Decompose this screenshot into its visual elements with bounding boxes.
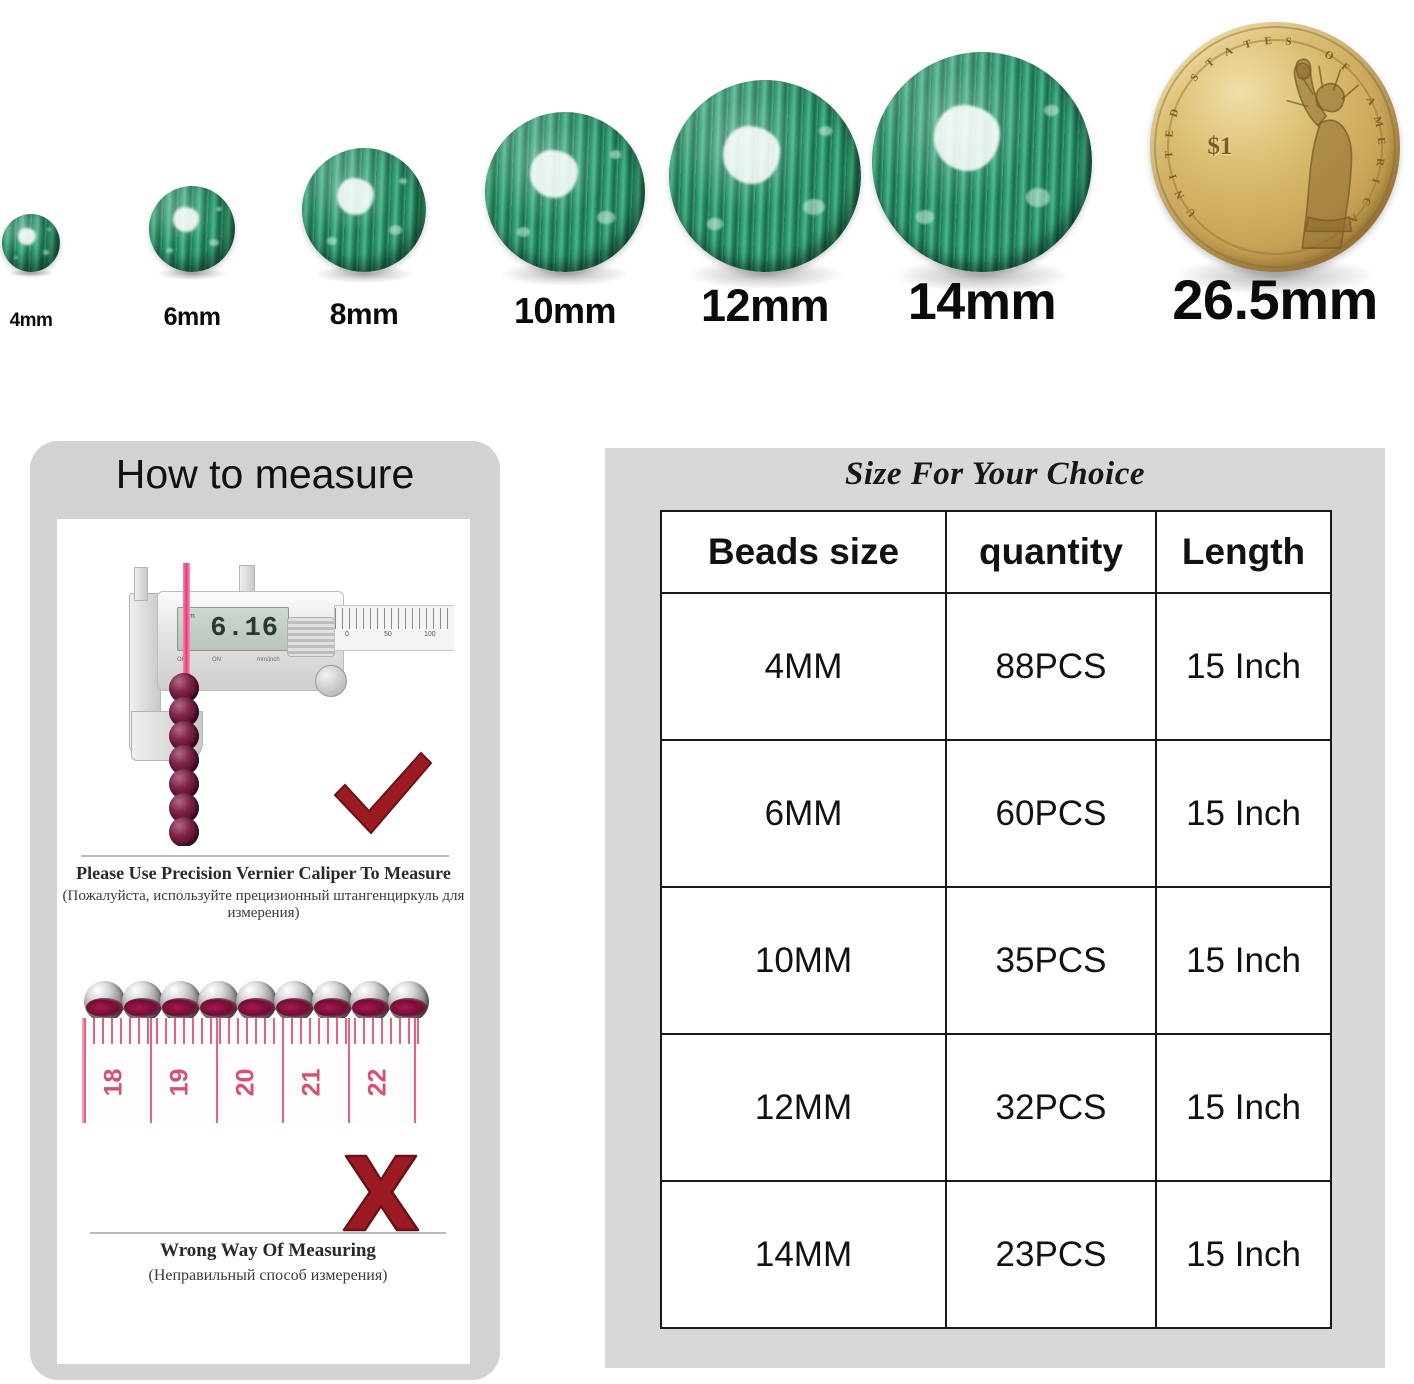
caption-divider-correct — [81, 855, 449, 857]
table-header-quantity: quantity — [946, 511, 1156, 593]
caliper-lcd-display: mm 6.16 — [177, 607, 289, 651]
table-cell-beads-size: 14MM — [661, 1181, 946, 1328]
size-table-title: Size For Your Choice — [605, 456, 1385, 493]
bead-size-label-4mm: 4mm — [10, 310, 53, 332]
cross-icon — [338, 1152, 424, 1234]
how-to-measure-panel: How to measure mm 6.16 OFF ON mm/inch — [30, 441, 500, 1380]
bead-size-label-12mm: 12mm — [701, 280, 829, 332]
caliper-upper-prong-left — [134, 567, 148, 601]
table-cell-length: 15 Inch — [1156, 887, 1331, 1034]
malachite-bead — [302, 148, 426, 272]
malachite-bead — [149, 186, 235, 272]
coin-item: UNITED STATES OF AMERICA$126.5mm — [1145, 0, 1405, 350]
table-cell-length: 15 Inch — [1156, 1034, 1331, 1181]
malachite-bead — [485, 112, 645, 272]
us-dollar-coin: UNITED STATES OF AMERICA$1 — [1150, 22, 1400, 272]
bead-size-label-10mm: 10mm — [514, 290, 616, 332]
malachite-bead — [2, 214, 60, 272]
table-body: 4MM88PCS15 Inch6MM60PCS15 Inch10MM35PCS1… — [661, 593, 1331, 1328]
ruler-number-21: 21 — [297, 1069, 326, 1097]
size-options-panel: Size For Your Choice Beads sizequantityL… — [605, 448, 1385, 1368]
correct-way-caption-ru: (Пожалуйста, используйте прецизионный шт… — [57, 888, 470, 922]
tape-measure-illustration: 18 19 20 21 22 — [82, 981, 450, 1123]
malachite-bead — [669, 80, 861, 272]
wrong-way-caption-en: Wrong Way Of Measuring — [68, 1240, 468, 1262]
bead-size-label-8mm: 8mm — [330, 298, 399, 332]
ruler-number-19: 19 — [165, 1069, 194, 1097]
caliper-thumb-wheel — [315, 665, 347, 697]
bead-size-label-6mm: 6mm — [164, 303, 221, 332]
steel-bead-strand — [84, 981, 426, 1022]
malachite-bead — [872, 52, 1092, 272]
caliper-scale-number-0: 0 — [345, 631, 349, 638]
table-cell-quantity: 23PCS — [946, 1181, 1156, 1328]
bead-size-label-14mm: 14mm — [908, 272, 1056, 332]
table-header-row: Beads sizequantityLength — [661, 511, 1331, 593]
caliper-reading: 6.16 — [210, 614, 288, 644]
ruler-number-22: 22 — [363, 1069, 392, 1097]
caliper-scale-number-100: 100 — [424, 631, 436, 638]
caliper-unit-toggle-button[interactable]: mm/inch — [257, 657, 280, 663]
caliper-depth-rod — [183, 563, 190, 678]
table-cell-quantity: 88PCS — [946, 593, 1156, 740]
table-cell-beads-size: 10MM — [661, 887, 946, 1034]
garnet-bead-strand — [167, 673, 203, 846]
table-cell-length: 15 Inch — [1156, 593, 1331, 740]
caliper-scale-number-50: 50 — [384, 631, 392, 638]
table-cell-beads-size: 6MM — [661, 740, 946, 887]
table-cell-quantity: 35PCS — [946, 887, 1156, 1034]
table-cell-beads-size: 4MM — [661, 593, 946, 740]
correct-way-caption-en: Please Use Precision Vernier Caliper To … — [57, 863, 470, 884]
check-icon — [329, 747, 437, 839]
wrong-measuring-card: 18 19 20 21 22 Wrong Way Of Measuring (Н… — [68, 934, 468, 1332]
table-cell-length: 15 Inch — [1156, 740, 1331, 887]
caliper-grip-ridges — [287, 617, 335, 657]
table-header-beads-size: Beads size — [661, 511, 946, 593]
table-row: 6MM60PCS15 Inch — [661, 740, 1331, 887]
size-table: Beads sizequantityLength 4MM88PCS15 Inch… — [660, 510, 1332, 1329]
tape-tick-marks — [84, 1018, 424, 1044]
ruler-number-18: 18 — [99, 1069, 128, 1097]
table-cell-length: 15 Inch — [1156, 1181, 1331, 1328]
vernier-caliper-illustration: mm 6.16 OFF ON mm/inch 0 50 100 — [79, 561, 454, 846]
table-row: 4MM88PCS15 Inch — [661, 593, 1331, 740]
coin-denomination: $1 — [1208, 133, 1233, 161]
bead-size-comparison-strip: 4mm6mm8mm10mm12mm14mmUNITED STATES OF AM… — [0, 0, 1414, 350]
table-cell-quantity: 32PCS — [946, 1034, 1156, 1181]
table-header-length: Length — [1156, 511, 1331, 593]
statue-of-liberty-icon — [1265, 57, 1385, 252]
tape-measure-body: 18 19 20 21 22 — [82, 1018, 424, 1123]
ruler-number-20: 20 — [231, 1069, 260, 1097]
bead-item-14mm: 14mm — [852, 0, 1112, 350]
wrong-way-caption-ru: (Неправильный способ измерения) — [68, 1267, 468, 1285]
caliper-beam-scale — [334, 605, 454, 651]
table-row: 12MM32PCS15 Inch — [661, 1034, 1331, 1181]
caliper-on-button[interactable]: ON — [212, 657, 221, 663]
caption-divider-wrong — [90, 1232, 446, 1234]
table-row: 14MM23PCS15 Inch — [661, 1181, 1331, 1328]
bead-size-label-26.5mm: 26.5mm — [1172, 267, 1378, 332]
table-cell-quantity: 60PCS — [946, 740, 1156, 887]
how-to-measure-title: How to measure — [30, 451, 500, 498]
table-row: 10MM35PCS15 Inch — [661, 887, 1331, 1034]
table-cell-beads-size: 12MM — [661, 1034, 946, 1181]
